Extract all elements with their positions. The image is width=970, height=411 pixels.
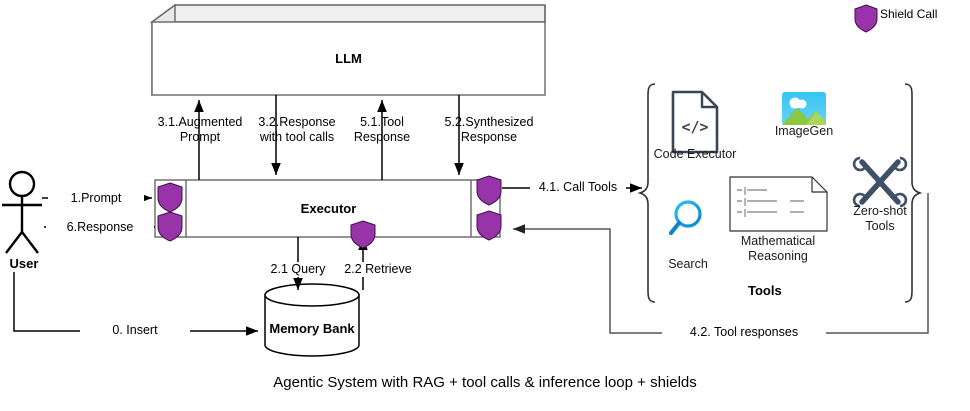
magnifier-icon[interactable] xyxy=(671,202,700,233)
llm-label: LLM xyxy=(152,51,545,66)
edge-label-query: 2.1 Query xyxy=(262,262,334,277)
user-node[interactable] xyxy=(2,172,42,253)
tool-label-search: Search xyxy=(648,257,728,272)
tools-group-label: Tools xyxy=(748,283,782,298)
memory-bank-node[interactable] xyxy=(265,284,359,356)
image-picture-icon[interactable] xyxy=(782,92,826,125)
memory-bank-label: Memory Bank xyxy=(265,321,359,336)
edge-label-retrieve: 2.2 Retrieve xyxy=(335,262,421,277)
crossed-wrenches-icon[interactable] xyxy=(862,162,898,202)
diagram-canvas: </> xyxy=(0,0,970,411)
tool-label-zero-shot-line1: Zero-shot xyxy=(835,204,925,219)
edge-label-tool-response-line2: Response xyxy=(330,130,434,145)
tool-label-math-reasoning-line2: Reasoning xyxy=(718,249,838,264)
legend-shield-icon xyxy=(855,5,877,32)
legend-shield-label: Shield Call xyxy=(880,7,937,21)
executor-label: Executor xyxy=(186,201,471,216)
llm-node[interactable] xyxy=(152,5,545,95)
shield-icon-executor-bottom-center[interactable] xyxy=(351,221,375,248)
tool-label-code-executor: Code Executor xyxy=(640,147,750,162)
edge-label-response: 6.Response xyxy=(46,220,154,235)
edge-label-call-tools: 4.1. Call Tools xyxy=(530,180,626,195)
tool-label-imagegen: ImageGen xyxy=(754,124,854,139)
tool-label-zero-shot-line2: Tools xyxy=(835,219,925,234)
edge-label-insert: 0. Insert xyxy=(80,323,190,338)
edge-label-tool-responses: 4.2. Tool responses xyxy=(662,325,826,340)
tool-label-math-reasoning-line1: Mathematical xyxy=(718,234,838,249)
edge-label-prompt: 1.Prompt xyxy=(48,191,144,206)
edge-label-synthesized-response-line2: Response xyxy=(424,130,554,145)
user-label: User xyxy=(0,256,48,271)
code-document-icon[interactable]: </> xyxy=(673,92,717,152)
diagram-caption: Agentic System with RAG + tool calls & i… xyxy=(0,374,970,391)
formula-document-icon[interactable] xyxy=(730,177,827,231)
edge-label-tool-response-line1: 5.1.Tool xyxy=(330,115,434,130)
edge-label-synthesized-response-line1: 5.2.Synthesized xyxy=(424,115,554,130)
svg-text:</>: </> xyxy=(681,118,708,136)
